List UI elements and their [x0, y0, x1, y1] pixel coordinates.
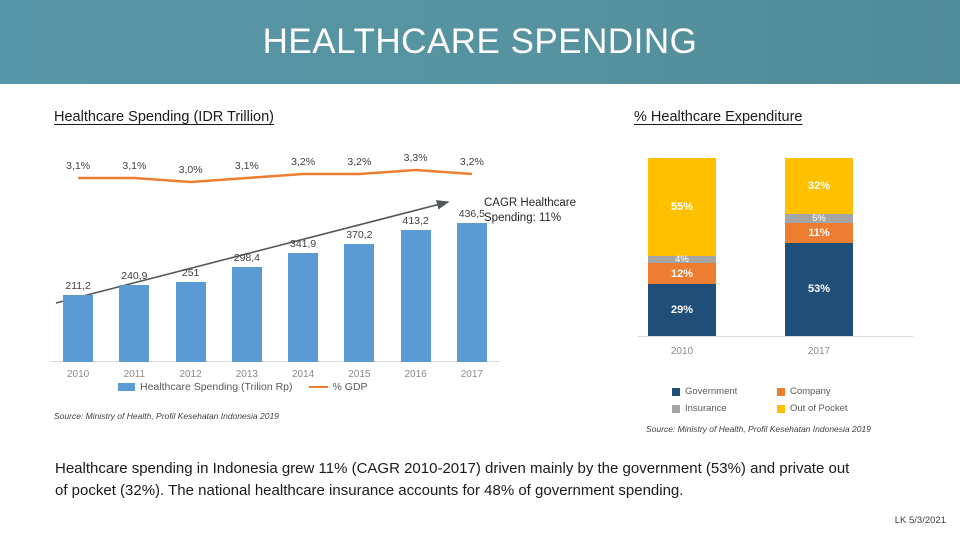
gdp-value-label: 3,1% — [50, 160, 106, 172]
legend-label: Out of Pocket — [790, 403, 848, 414]
footer-note: LK 5/3/2021 — [895, 515, 946, 526]
x-axis-label: 2010 — [50, 369, 106, 380]
gdp-value-label: 3,1% — [106, 160, 162, 172]
cagr-annotation-line1: CAGR Healthcare — [484, 196, 576, 211]
spending-bar — [344, 244, 374, 362]
healthcare-expenditure-chart: 55%4%12%29%201032%5%11%53%2017 — [630, 150, 920, 365]
stack-segment-government: 53% — [785, 243, 853, 336]
gdp-value-label: 3,2% — [331, 156, 387, 168]
stack-segment-government: 29% — [648, 284, 716, 336]
legend-swatch-icon — [672, 405, 680, 413]
slide: HEALTHCARE SPENDING Healthcare Spending … — [0, 0, 960, 540]
spending-bar-value: 413,2 — [388, 215, 444, 227]
legend-item-out-of-pocket: Out of Pocket — [777, 403, 892, 414]
stack-segment-out-of-pocket: 32% — [785, 158, 853, 214]
expenditure-stack: 55%4%12%29% — [648, 158, 716, 336]
legend-label: Government — [685, 386, 737, 397]
x-axis-label: 2017 — [769, 346, 869, 357]
right-chart-legend: GovernmentCompanyInsuranceOut of Pocket — [672, 386, 902, 414]
right-chart-source: Source: Ministry of Health, Profil Keseh… — [646, 424, 871, 434]
x-axis-label: 2014 — [275, 369, 331, 380]
spending-bar-value: 341,9 — [275, 238, 331, 250]
x-axis-label: 2016 — [388, 369, 444, 380]
legend-label: Insurance — [685, 403, 727, 414]
right-chart-axis — [638, 336, 913, 337]
left-chart-legend: Healthcare Spending (Trilion Rp) % GDP — [118, 381, 368, 393]
left-chart-source: Source: Ministry of Health, Profil Keseh… — [54, 411, 279, 421]
left-chart-overlay — [50, 140, 500, 380]
legend-label-spending: Healthcare Spending (Trilion Rp) — [140, 381, 293, 393]
x-axis-label: 2017 — [444, 369, 500, 380]
stack-segment-insurance: 4% — [648, 256, 716, 263]
summary-text: Healthcare spending in Indonesia grew 11… — [55, 458, 855, 502]
legend-swatch-icon — [777, 388, 785, 396]
cagr-annotation: CAGR Healthcare Spending: 11% — [484, 196, 576, 226]
legend-item-spending: Healthcare Spending (Trilion Rp) — [118, 381, 293, 393]
legend-item-government: Government — [672, 386, 777, 397]
bar-swatch-icon — [118, 383, 135, 391]
stack-segment-out-of-pocket: 55% — [648, 158, 716, 256]
spending-bar — [401, 230, 431, 362]
healthcare-spending-chart: 211,22010240,920112512012298,42013341,92… — [50, 140, 500, 380]
spending-bar — [232, 267, 262, 362]
stack-segment-company: 11% — [785, 223, 853, 242]
x-axis-label: 2012 — [163, 369, 219, 380]
spending-bar — [119, 285, 149, 362]
spending-bar — [288, 253, 318, 362]
spending-bar-value: 298,4 — [219, 252, 275, 264]
slide-header: HEALTHCARE SPENDING — [0, 0, 960, 84]
gdp-value-label: 3,2% — [275, 156, 331, 168]
legend-item-insurance: Insurance — [672, 403, 777, 414]
spending-bar-value: 240,9 — [106, 270, 162, 282]
x-axis-label: 2010 — [632, 346, 732, 357]
gdp-value-label: 3,0% — [163, 164, 219, 176]
legend-swatch-icon — [777, 405, 785, 413]
x-axis-label: 2015 — [331, 369, 387, 380]
legend-label: Company — [790, 386, 831, 397]
spending-bar — [176, 282, 206, 362]
gdp-value-label: 3,1% — [219, 160, 275, 172]
stack-segment-insurance: 5% — [785, 214, 853, 223]
spending-bar — [457, 223, 487, 362]
spending-bar-value: 251 — [163, 267, 219, 279]
left-chart-title: Healthcare Spending (IDR Trillion) — [54, 109, 274, 125]
x-axis-label: 2011 — [106, 369, 162, 380]
x-axis-label: 2013 — [219, 369, 275, 380]
spending-bar-value: 370,2 — [331, 229, 387, 241]
legend-item-gdp: % GDP — [309, 381, 368, 393]
gdp-value-label: 3,3% — [388, 152, 444, 164]
legend-item-company: Company — [777, 386, 892, 397]
legend-label-gdp: % GDP — [333, 381, 368, 393]
spending-bar-value: 211,2 — [50, 280, 106, 292]
right-chart-title: % Healthcare Expenditure — [634, 109, 802, 125]
line-swatch-icon — [309, 386, 328, 389]
spending-bar — [63, 295, 93, 362]
cagr-annotation-line2: Spending: 11% — [484, 211, 576, 226]
expenditure-stack: 32%5%11%53% — [785, 158, 853, 336]
stack-segment-company: 12% — [648, 263, 716, 284]
page-title: HEALTHCARE SPENDING — [263, 22, 698, 62]
gdp-value-label: 3,2% — [444, 156, 500, 168]
legend-swatch-icon — [672, 388, 680, 396]
